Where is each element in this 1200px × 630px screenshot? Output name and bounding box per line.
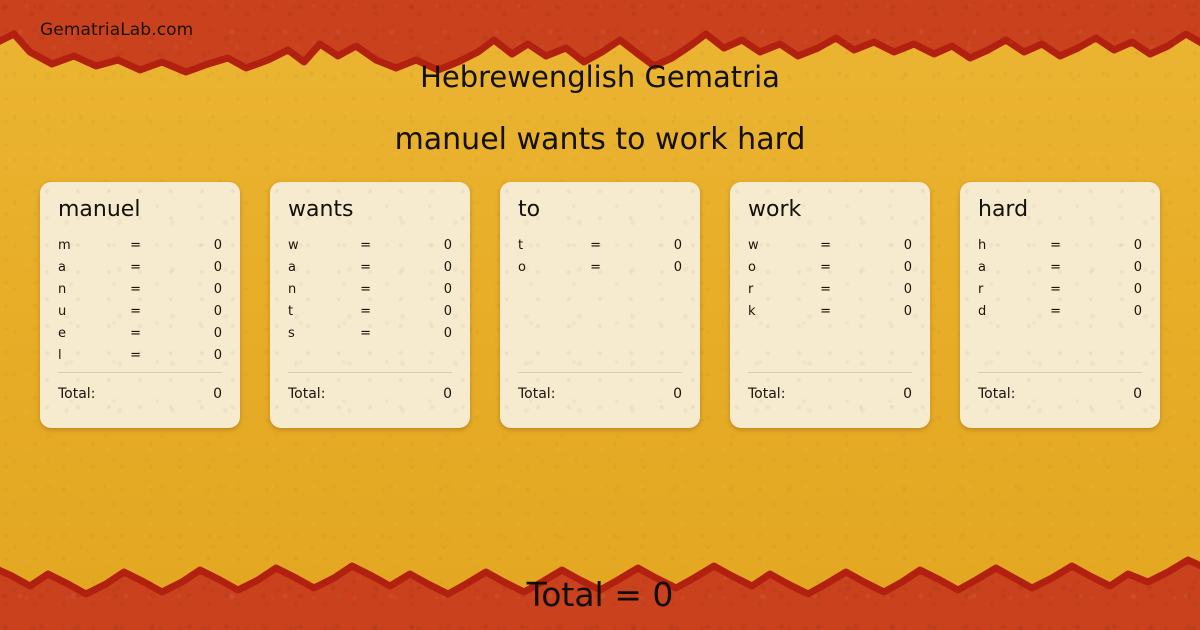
- letter-row: t=0: [288, 304, 452, 326]
- letter-label: s: [288, 326, 360, 341]
- letter-value: 0: [1093, 238, 1142, 253]
- letter-value: 0: [633, 260, 682, 275]
- letter-value: 0: [173, 326, 222, 341]
- word-total-row: Total:0: [978, 386, 1142, 402]
- equals-sign: =: [130, 348, 173, 363]
- letter-row: l=0: [58, 348, 222, 370]
- word-card-footer: Total:0: [748, 372, 912, 402]
- letter-value: 0: [863, 304, 912, 319]
- word-total-value: 0: [443, 386, 452, 402]
- phrase-heading: manuel wants to work hard: [0, 122, 1200, 157]
- equals-sign: =: [130, 282, 173, 297]
- card-divider: [978, 372, 1142, 373]
- letter-rows: w=0o=0r=0k=0: [748, 238, 912, 326]
- word-cards-container: manuelm=0a=0n=0u=0e=0l=0Total:0wantsw=0a…: [40, 182, 1160, 428]
- letter-rows: h=0a=0r=0d=0: [978, 238, 1142, 326]
- letter-label: h: [978, 238, 1050, 253]
- letter-label: a: [288, 260, 360, 275]
- letter-label: r: [978, 282, 1050, 297]
- letter-row: k=0: [748, 304, 912, 326]
- letter-row: r=0: [978, 282, 1142, 304]
- card-divider: [748, 372, 912, 373]
- equals-sign: =: [590, 260, 633, 275]
- word-card-title: manuel: [58, 198, 222, 222]
- word-card-title: work: [748, 198, 912, 222]
- word-card: manuelm=0a=0n=0u=0e=0l=0Total:0: [40, 182, 240, 428]
- letter-value: 0: [863, 238, 912, 253]
- letter-row: s=0: [288, 326, 452, 348]
- letter-value: 0: [633, 238, 682, 253]
- word-card-footer: Total:0: [518, 372, 682, 402]
- letter-value: 0: [403, 282, 452, 297]
- equals-sign: =: [360, 260, 403, 275]
- equals-sign: =: [820, 260, 863, 275]
- letter-row: e=0: [58, 326, 222, 348]
- letter-row: u=0: [58, 304, 222, 326]
- word-card-footer: Total:0: [288, 372, 452, 402]
- card-divider: [518, 372, 682, 373]
- letter-label: w: [288, 238, 360, 253]
- equals-sign: =: [130, 326, 173, 341]
- letter-label: k: [748, 304, 820, 319]
- word-card-footer: Total:0: [58, 372, 222, 402]
- letter-value: 0: [863, 260, 912, 275]
- page-title: Hebrewenglish Gematria: [0, 60, 1200, 94]
- letter-row: h=0: [978, 238, 1142, 260]
- letter-row: t=0: [518, 238, 682, 260]
- letter-row: a=0: [58, 260, 222, 282]
- word-total-row: Total:0: [748, 386, 912, 402]
- equals-sign: =: [590, 238, 633, 253]
- word-total-row: Total:0: [58, 386, 222, 402]
- letter-value: 0: [1093, 282, 1142, 297]
- letter-row: o=0: [748, 260, 912, 282]
- letter-row: r=0: [748, 282, 912, 304]
- letter-row: d=0: [978, 304, 1142, 326]
- equals-sign: =: [820, 238, 863, 253]
- letter-label: u: [58, 304, 130, 319]
- letter-value: 0: [173, 304, 222, 319]
- word-total-row: Total:0: [518, 386, 682, 402]
- gematria-card-image: GematriaLab.com Hebrewenglish Gematria m…: [0, 0, 1200, 630]
- letter-value: 0: [173, 238, 222, 253]
- letter-row: w=0: [288, 238, 452, 260]
- letter-label: n: [58, 282, 130, 297]
- letter-value: 0: [173, 348, 222, 363]
- equals-sign: =: [1050, 304, 1093, 319]
- grand-total: Total = 0: [0, 575, 1200, 614]
- letter-row: w=0: [748, 238, 912, 260]
- word-total-value: 0: [903, 386, 912, 402]
- letter-row: n=0: [288, 282, 452, 304]
- equals-sign: =: [130, 260, 173, 275]
- letter-value: 0: [403, 260, 452, 275]
- letter-label: a: [978, 260, 1050, 275]
- word-card-title: wants: [288, 198, 452, 222]
- letter-label: o: [518, 260, 590, 275]
- letter-value: 0: [863, 282, 912, 297]
- word-total-label: Total:: [748, 386, 903, 402]
- word-total-value: 0: [213, 386, 222, 402]
- letter-value: 0: [173, 260, 222, 275]
- letter-value: 0: [1093, 260, 1142, 275]
- letter-label: l: [58, 348, 130, 363]
- card-divider: [288, 372, 452, 373]
- word-total-label: Total:: [518, 386, 673, 402]
- letter-label: t: [288, 304, 360, 319]
- letter-label: o: [748, 260, 820, 275]
- equals-sign: =: [360, 282, 403, 297]
- letter-label: m: [58, 238, 130, 253]
- letter-label: w: [748, 238, 820, 253]
- word-total-label: Total:: [978, 386, 1133, 402]
- word-card-title: to: [518, 198, 682, 222]
- site-logo[interactable]: GematriaLab.com: [40, 20, 193, 40]
- equals-sign: =: [820, 304, 863, 319]
- word-card: hardh=0a=0r=0d=0Total:0: [960, 182, 1160, 428]
- equals-sign: =: [1050, 260, 1093, 275]
- letter-row: o=0: [518, 260, 682, 282]
- card-divider: [58, 372, 222, 373]
- letter-label: a: [58, 260, 130, 275]
- word-card-footer: Total:0: [978, 372, 1142, 402]
- letter-value: 0: [173, 282, 222, 297]
- word-card: wantsw=0a=0n=0t=0s=0Total:0: [270, 182, 470, 428]
- equals-sign: =: [1050, 282, 1093, 297]
- equals-sign: =: [360, 238, 403, 253]
- word-total-value: 0: [1133, 386, 1142, 402]
- equals-sign: =: [1050, 238, 1093, 253]
- letter-label: r: [748, 282, 820, 297]
- letter-rows: t=0o=0: [518, 238, 682, 282]
- letter-row: a=0: [288, 260, 452, 282]
- letter-label: n: [288, 282, 360, 297]
- word-total-label: Total:: [288, 386, 443, 402]
- letter-rows: m=0a=0n=0u=0e=0l=0: [58, 238, 222, 370]
- letter-row: a=0: [978, 260, 1142, 282]
- letter-label: d: [978, 304, 1050, 319]
- equals-sign: =: [360, 304, 403, 319]
- word-total-row: Total:0: [288, 386, 452, 402]
- word-card: workw=0o=0r=0k=0Total:0: [730, 182, 930, 428]
- letter-rows: w=0a=0n=0t=0s=0: [288, 238, 452, 348]
- equals-sign: =: [360, 326, 403, 341]
- equals-sign: =: [130, 238, 173, 253]
- letter-value: 0: [1093, 304, 1142, 319]
- letter-value: 0: [403, 238, 452, 253]
- equals-sign: =: [130, 304, 173, 319]
- word-total-value: 0: [673, 386, 682, 402]
- letter-value: 0: [403, 304, 452, 319]
- letter-label: e: [58, 326, 130, 341]
- equals-sign: =: [820, 282, 863, 297]
- letter-value: 0: [403, 326, 452, 341]
- word-card-title: hard: [978, 198, 1142, 222]
- letter-row: m=0: [58, 238, 222, 260]
- word-total-label: Total:: [58, 386, 213, 402]
- letter-label: t: [518, 238, 590, 253]
- letter-row: n=0: [58, 282, 222, 304]
- word-card: tot=0o=0Total:0: [500, 182, 700, 428]
